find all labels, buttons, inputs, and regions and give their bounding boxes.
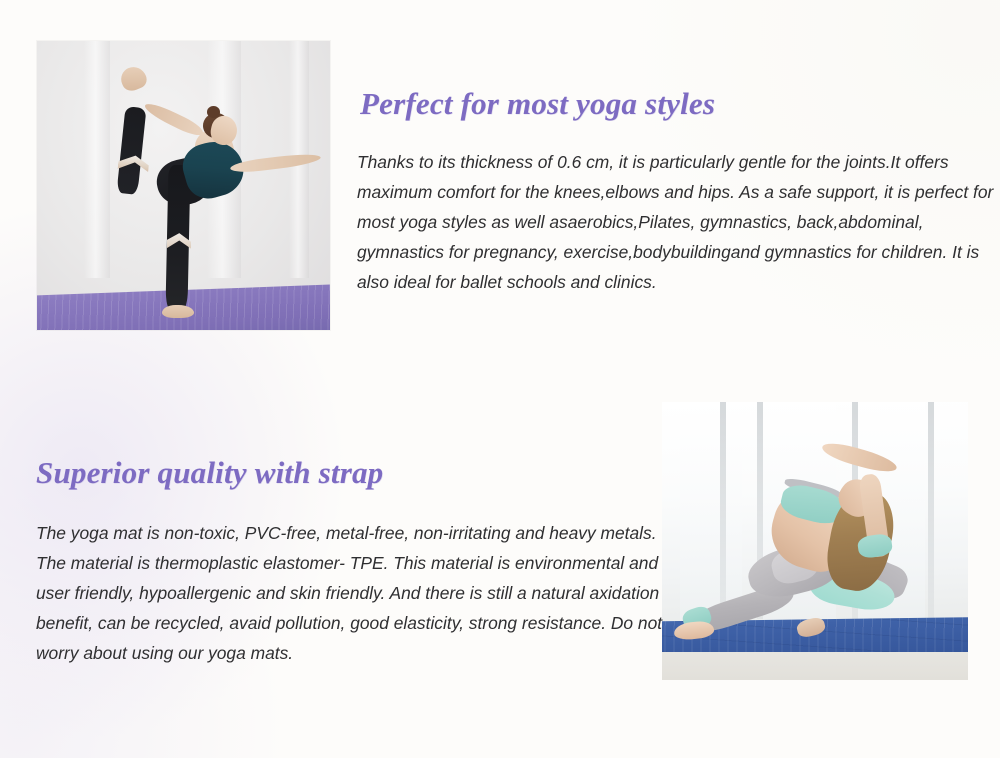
window-pane [680,402,741,624]
product-feature-page: Perfect for most yoga styles Thanks to i… [0,0,1000,758]
window-mullion [720,402,726,619]
yoga-photo-mermaid-pose [662,402,968,680]
section-body-superior-quality-with-strap: The yoga mat is non-toxic, PVC-free, met… [36,518,686,668]
section-heading-perfect-for-most-yoga-styles: Perfect for most yoga styles [360,86,715,122]
backdrop-fold [84,41,110,278]
yoga-photo-standing-split [37,41,330,330]
window-mullion [928,402,934,619]
section-heading-superior-quality-with-strap: Superior quality with strap [36,455,383,491]
section-body-perfect-for-most-yoga-styles: Thanks to its thickness of 0.6 cm, it is… [357,147,997,297]
model-standing-foot [162,305,194,318]
